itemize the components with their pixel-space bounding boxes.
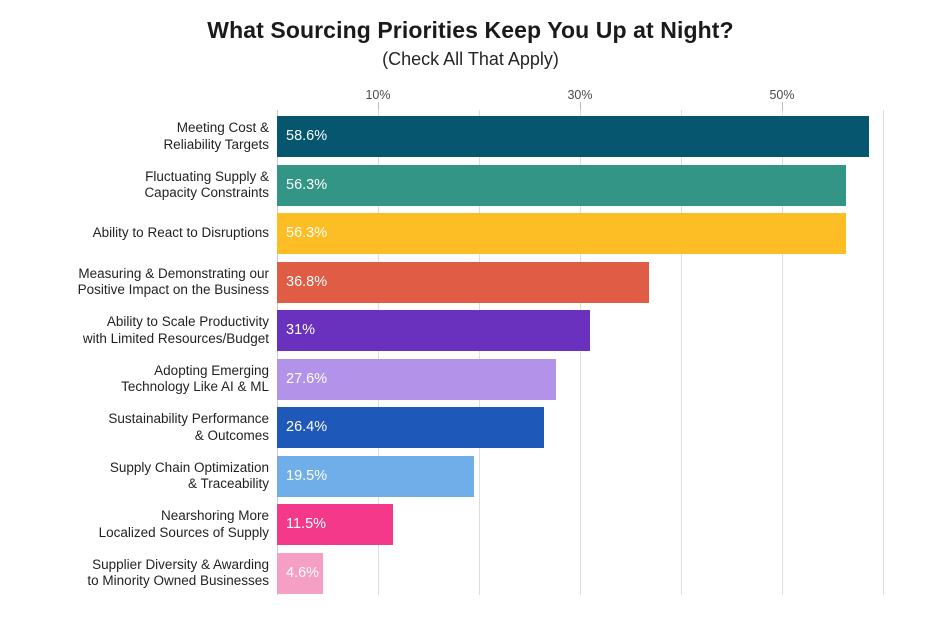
bar-value-label: 58.6% bbox=[286, 116, 327, 157]
category-label: Supply Chain Optimization& Traceability bbox=[14, 456, 269, 497]
category-label: Supplier Diversity & Awardingto Minority… bbox=[14, 553, 269, 594]
category-label-line: Technology Like AI & ML bbox=[121, 379, 269, 396]
category-axis-labels: Meeting Cost &Reliability TargetsFluctua… bbox=[8, 110, 269, 595]
bar-row: 19.5% bbox=[277, 456, 883, 497]
bar-value-label: 11.5% bbox=[286, 504, 326, 545]
bar-value-label: 56.3% bbox=[286, 213, 327, 254]
category-label-line: Supply Chain Optimization bbox=[110, 460, 269, 477]
category-label-line: Positive Impact on the Business bbox=[78, 282, 269, 299]
category-label: Ability to Scale Productivitywith Limite… bbox=[14, 310, 269, 351]
bar-row: 11.5% bbox=[277, 504, 883, 545]
bar[interactable] bbox=[277, 262, 649, 303]
bar-value-label: 4.6% bbox=[286, 553, 319, 594]
bar[interactable] bbox=[277, 165, 846, 206]
bar[interactable] bbox=[277, 116, 869, 157]
category-label-line: Capacity Constraints bbox=[144, 185, 269, 202]
category-label-line: with Limited Resources/Budget bbox=[83, 331, 269, 348]
bar-row: 36.8% bbox=[277, 262, 883, 303]
category-label-line: Localized Sources of Supply bbox=[99, 525, 269, 542]
bar-row: 56.3% bbox=[277, 213, 883, 254]
category-label-line: Sustainability Performance bbox=[108, 411, 269, 428]
bar-row: 56.3% bbox=[277, 165, 883, 206]
bar-value-label: 31% bbox=[286, 310, 315, 351]
x-axis-tick-label: 30% bbox=[567, 88, 592, 102]
category-label-line: Nearshoring More bbox=[161, 508, 269, 525]
bar-row: 31% bbox=[277, 310, 883, 351]
bar-value-label: 26.4% bbox=[286, 407, 327, 448]
category-label-line: to Minority Owned Businesses bbox=[87, 573, 269, 590]
category-label: Adopting EmergingTechnology Like AI & ML bbox=[14, 359, 269, 400]
bar[interactable] bbox=[277, 310, 590, 351]
gridline bbox=[883, 110, 884, 595]
plot-area: 10%30%50%58.6%56.3%56.3%36.8%31%27.6%26.… bbox=[277, 110, 883, 595]
category-label: Sustainability Performance& Outcomes bbox=[14, 407, 269, 448]
category-label-line: Ability to React to Disruptions bbox=[93, 225, 269, 242]
page-title: What Sourcing Priorities Keep You Up at … bbox=[0, 16, 941, 44]
bar-chart: What Sourcing Priorities Keep You Up at … bbox=[0, 0, 941, 644]
category-label-line: Fluctuating Supply & bbox=[145, 169, 269, 186]
x-axis-tick-mark bbox=[782, 102, 783, 110]
x-axis-tick-mark bbox=[580, 102, 581, 110]
category-label-line: Reliability Targets bbox=[163, 137, 269, 154]
category-label-line: Supplier Diversity & Awarding bbox=[92, 557, 269, 574]
category-label: Fluctuating Supply &Capacity Constraints bbox=[14, 165, 269, 206]
bar-row: 58.6% bbox=[277, 116, 883, 157]
category-label-line: Measuring & Demonstrating our bbox=[78, 266, 269, 283]
bar-row: 4.6% bbox=[277, 553, 883, 594]
chart-subtitle: (Check All That Apply) bbox=[0, 47, 941, 71]
category-label: Meeting Cost &Reliability Targets bbox=[14, 116, 269, 157]
category-label: Measuring & Demonstrating ourPositive Im… bbox=[14, 262, 269, 303]
bar[interactable] bbox=[277, 213, 846, 254]
bar-row: 26.4% bbox=[277, 407, 883, 448]
category-label-line: Ability to Scale Productivity bbox=[107, 314, 269, 331]
x-axis-tick-label: 50% bbox=[769, 88, 794, 102]
chart-header: What Sourcing Priorities Keep You Up at … bbox=[0, 16, 941, 71]
bar-row: 27.6% bbox=[277, 359, 883, 400]
category-label-line: Meeting Cost & bbox=[177, 120, 269, 137]
category-label: Ability to React to Disruptions bbox=[14, 213, 269, 254]
bar-value-label: 56.3% bbox=[286, 165, 327, 206]
category-label-line: Adopting Emerging bbox=[154, 363, 269, 380]
x-axis-tick-mark bbox=[378, 102, 379, 110]
bar-value-label: 36.8% bbox=[286, 262, 327, 303]
category-label-line: & Traceability bbox=[188, 476, 269, 493]
bar-value-label: 27.6% bbox=[286, 359, 327, 400]
category-label: Nearshoring MoreLocalized Sources of Sup… bbox=[14, 504, 269, 545]
category-label-line: & Outcomes bbox=[195, 428, 269, 445]
bar-value-label: 19.5% bbox=[286, 456, 327, 497]
x-axis-tick-label: 10% bbox=[365, 88, 390, 102]
